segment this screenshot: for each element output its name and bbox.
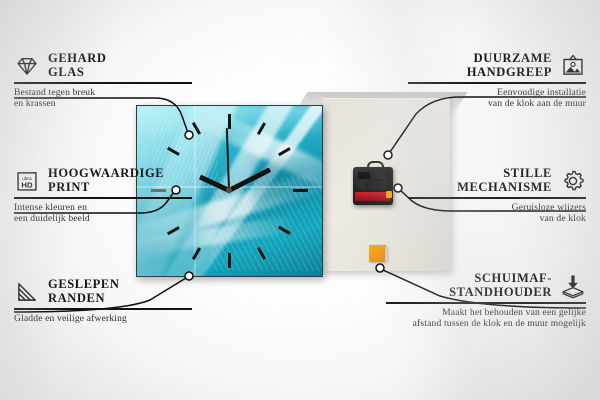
feature-schuimafstandhouder[interactable]: SCHUIMAF- STANDHOUDER Maakt het behouden…	[386, 272, 586, 330]
feature-desc-line2: een duidelijk beeld	[14, 213, 192, 225]
feature-title-2: MECHANISME	[457, 181, 552, 195]
feature-desc-line2: van de klok aan de muur	[408, 98, 586, 110]
feature-title-2: GLAS	[48, 66, 106, 80]
feature-divider	[408, 82, 586, 84]
bevelled-edge-icon	[14, 279, 40, 305]
feature-divider	[386, 302, 586, 304]
feature-duurzame-handgreep[interactable]: DUURZAME HANDGREEP Eenvoudige installati…	[408, 52, 586, 110]
feature-desc-line2: afstand tussen de klok en de muur mogeli…	[386, 318, 586, 330]
feature-divider	[408, 197, 586, 199]
feature-desc-line2: van de klok	[408, 213, 586, 225]
clock-tick	[293, 189, 308, 192]
feature-desc-line1: Intense kleuren en	[14, 202, 192, 214]
feature-desc-line1: Gladde en veilige afwerking	[14, 313, 192, 325]
clock-hand-cap	[226, 187, 232, 193]
feature-title-2: HANDGREEP	[467, 66, 552, 80]
feature-title-2: RANDEN	[48, 292, 120, 306]
picture-hanger-icon	[560, 53, 586, 79]
feature-title: STILLE	[457, 167, 552, 181]
feature-divider	[14, 197, 192, 199]
feature-title: GESLEPEN	[48, 278, 120, 292]
gear-icon	[560, 168, 586, 194]
feature-divider	[14, 82, 192, 84]
feature-title: HOOGWAARDIGE	[48, 167, 164, 181]
feature-geslepen-randen[interactable]: GESLEPEN RANDEN Gladde en veilige afwerk…	[14, 278, 192, 324]
foam-spacer-side	[385, 247, 389, 262]
battery-plus-terminal	[386, 191, 392, 198]
feature-title: SCHUIMAF-	[449, 272, 552, 286]
feature-title: DUURZAME	[467, 52, 552, 66]
foam-stand-icon	[560, 273, 586, 299]
feature-gehard-glas[interactable]: GEHARD GLAS Bestand tegen breuk en krass…	[14, 52, 192, 110]
infographic-canvas: GEHARD GLAS Bestand tegen breuk en krass…	[0, 0, 600, 400]
clock-tick	[228, 114, 231, 129]
feature-desc-line1: Maakt het behouden van een gelijke	[386, 307, 586, 319]
feature-desc-line1: Geruisloze wijzers	[408, 202, 586, 214]
ultra-hd-icon: ultra HD	[14, 168, 40, 194]
feature-stille-mechanisme[interactable]: STILLE MECHANISME Geruisloze wijzers van…	[408, 167, 586, 225]
feature-desc-line2: en krassen	[14, 98, 192, 110]
feature-desc-line1: Eenvoudige installatie	[408, 87, 586, 99]
feature-hoogwaardige-print[interactable]: ultra HD HOOGWAARDIGE PRINT Intense kleu…	[14, 167, 192, 225]
feature-divider	[14, 308, 192, 310]
foam-spacer	[369, 245, 386, 262]
clock-tick	[228, 253, 231, 268]
svg-text:HD: HD	[21, 180, 33, 189]
feature-title: GEHARD	[48, 52, 106, 66]
diamond-icon	[14, 53, 40, 79]
feature-title-2: PRINT	[48, 181, 164, 195]
feature-desc-line1: Bestand tegen breuk	[14, 87, 192, 99]
feature-title-2: STANDHOUDER	[449, 286, 552, 300]
